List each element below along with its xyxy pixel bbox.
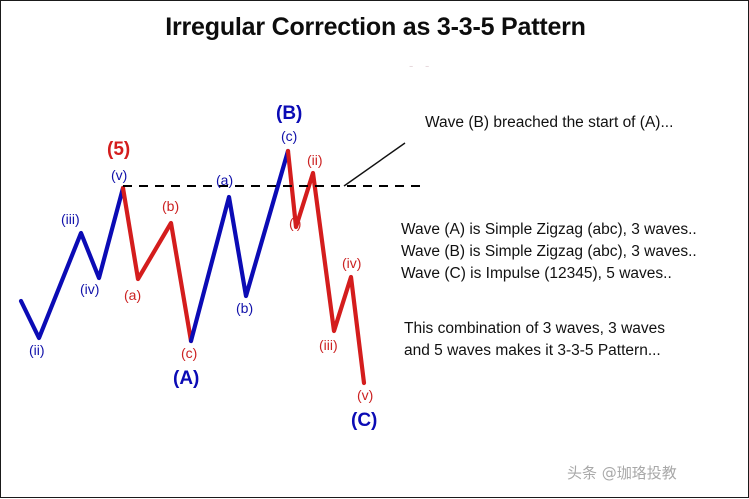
- wave-path-wave-A-zigzag-down: [123, 188, 191, 341]
- wave-label-5-4: (5): [107, 140, 130, 159]
- note-wave-c: Wave (C) is Impulse (12345), 5 waves..: [401, 264, 672, 284]
- wave-label-A-8: (A): [173, 369, 199, 388]
- wave-label-iv-2: (iv): [80, 282, 99, 296]
- conclusion-line-2: and 5 waves makes it 3-3-5 Pattern...: [404, 341, 661, 361]
- wave-label-ii-0: (ii): [29, 343, 45, 357]
- wave-label-b-10: (b): [236, 301, 253, 315]
- wave-label-a-9: (a): [216, 173, 233, 187]
- wave-label-b-6: (b): [162, 199, 179, 213]
- wave-label-iii-15: (iii): [319, 338, 338, 352]
- wave-label-c-11: (c): [281, 129, 297, 143]
- conclusion-line-1: This combination of 3 waves, 3 waves: [404, 319, 665, 339]
- callout-leader-line: [344, 143, 405, 186]
- wave-label-iv-16: (iv): [342, 256, 361, 270]
- wave-label-C-18: (C): [351, 411, 377, 430]
- wave-label-ii-14: (ii): [307, 153, 323, 167]
- diagram-canvas: Irregular Correction as 3-3-5 Pattern - …: [0, 0, 749, 498]
- watermark: 头条 @珈珞投教: [567, 462, 677, 483]
- wave-label-B-12: (B): [276, 104, 302, 123]
- wave-label-v-17: (v): [357, 388, 373, 402]
- wave-label-i-13: (i): [289, 216, 301, 230]
- wave-label-v-3: (v): [111, 168, 127, 182]
- wave-label-c-7: (c): [181, 346, 197, 360]
- wave-label-iii-1: (iii): [61, 212, 80, 226]
- callout-text: Wave (B) breached the start of (A)...: [425, 113, 673, 133]
- wave-label-a-5: (a): [124, 288, 141, 302]
- note-wave-a: Wave (A) is Simple Zigzag (abc), 3 waves…: [401, 220, 697, 240]
- note-wave-b: Wave (B) is Simple Zigzag (abc), 3 waves…: [401, 242, 697, 262]
